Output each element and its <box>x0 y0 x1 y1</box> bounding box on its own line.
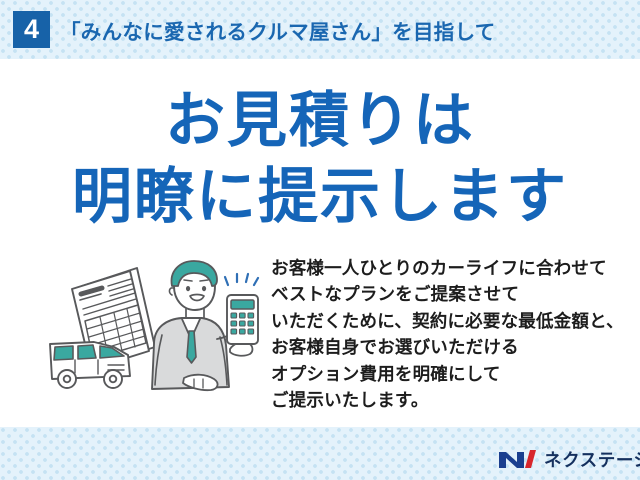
body-line-2: ベストなプランをご提案させて <box>271 281 631 307</box>
brand-logo: ネクステージ <box>497 446 640 472</box>
advertisement-slide: 4 「みんなに愛されるクルマ屋さん」を目指して お見積りは 明瞭に提示します <box>0 0 640 480</box>
body-copy-block: お客様一人ひとりのカーライフに合わせて ベストなプランをご提案させて いただくた… <box>271 255 631 413</box>
headline-line-1: お見積りは <box>0 83 640 159</box>
content-stage: お見積りは 明瞭に提示します <box>0 59 640 427</box>
body-line-6: ご提示いたします。 <box>271 387 631 413</box>
van-illustration <box>50 342 130 388</box>
body-line-4: お客様自身でお選びいただける <box>271 334 631 360</box>
nextage-n-mark-icon <box>497 448 537 470</box>
illustration-svg <box>34 255 266 415</box>
calculator-icon <box>227 295 258 344</box>
body-line-5: オプション費用を明確にして <box>271 361 631 387</box>
headline-line-2: 明瞭に提示します <box>0 159 640 235</box>
brand-wordmark: ネクステージ <box>544 447 640 472</box>
body-line-3: いただくために、契約に必要な最低金額と、 <box>271 308 631 334</box>
headline-block: お見積りは 明瞭に提示します <box>0 83 640 235</box>
header-title: 「みんなに愛されるクルマ屋さん」を目指して <box>60 14 496 46</box>
sparkle-icon <box>225 274 258 285</box>
section-number-badge: 4 <box>13 11 50 48</box>
body-line-1: お客様一人ひとりのカーライフに合わせて <box>271 255 631 281</box>
illustration <box>34 255 266 415</box>
